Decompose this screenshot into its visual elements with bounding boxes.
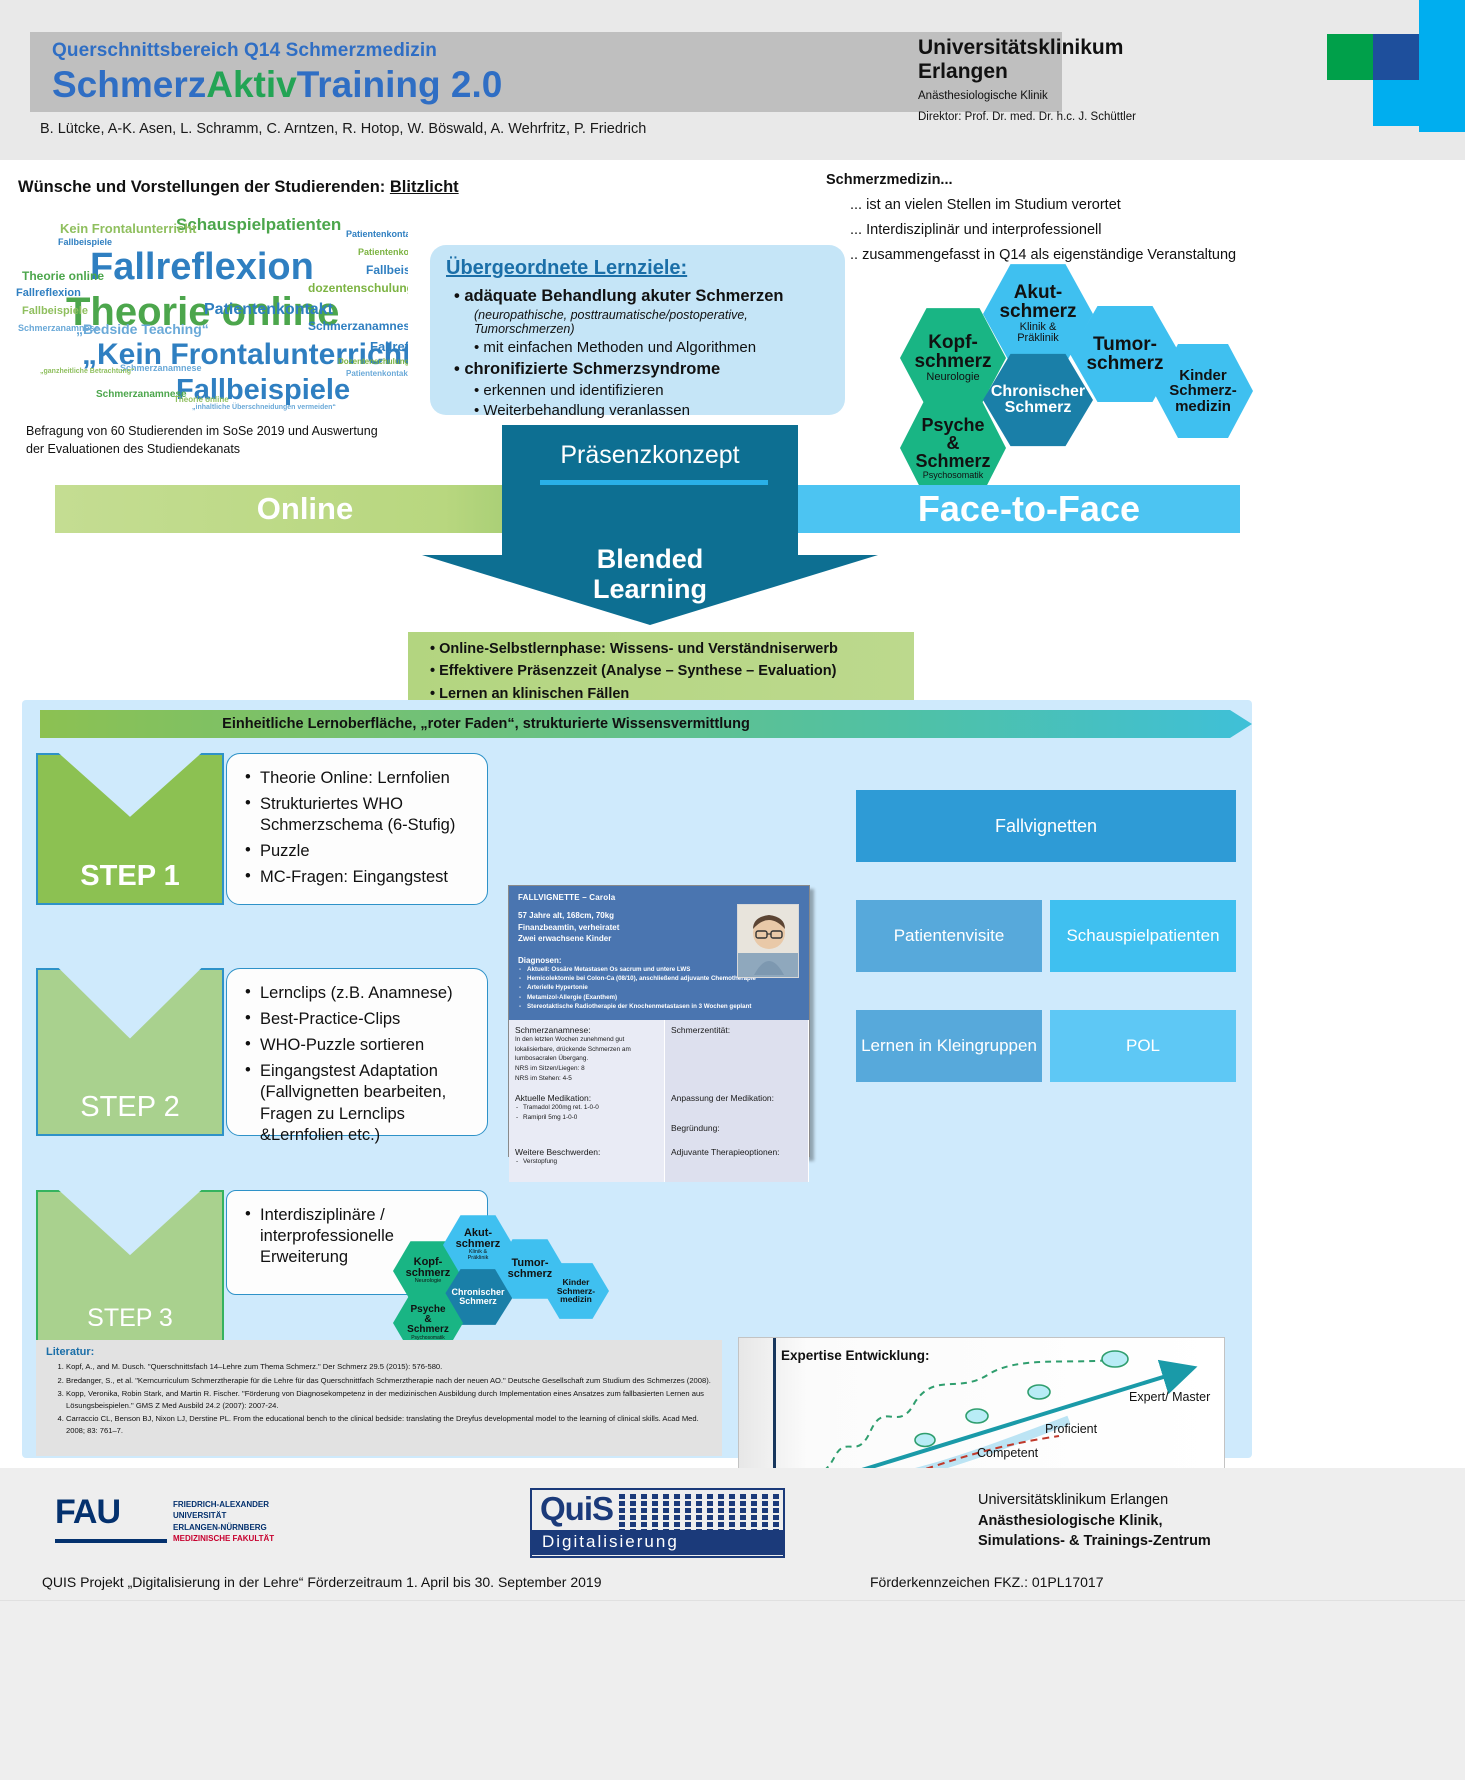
wordcloud-word: Schmerzanamnese: [18, 324, 100, 333]
hexagon-title: Akut-schmerz: [456, 1228, 501, 1250]
hexagon-title: Kopf-schmerz: [914, 333, 991, 372]
step-2-item-3: WHO-Puzzle sortieren: [245, 1035, 477, 1056]
step-1-item-1: Theorie Online: Lernfolien: [245, 768, 477, 789]
schmerzmedizin-block: Schmerzmedizin... ... ist an vielen Stel…: [826, 172, 1286, 263]
flag-green-square: [1327, 34, 1373, 80]
anpassung-cell: Anpassung der Medikation: Begründung:: [665, 1088, 809, 1142]
hexagon-subtitle: Psychosomatik: [923, 471, 984, 480]
schmerzmedizin-line-2: ... Interdisziplinär und interprofession…: [850, 222, 1286, 238]
wordcloud-word: Fallreflexion: [370, 340, 408, 353]
table-row: Aktuelle Medikation: Tramadol 200mg ret.…: [509, 1088, 809, 1142]
online-label: Online: [55, 491, 555, 527]
wordcloud-word: Fallreflexion: [16, 288, 81, 299]
tile-fallvignetten[interactable]: Fallvignetten: [856, 790, 1236, 862]
tile-pol-label: POL: [1126, 1036, 1160, 1056]
fau-wordmark: FAU: [55, 1493, 120, 1532]
footer-address-line3: Simulations- & Trainings-Zentrum: [978, 1531, 1211, 1552]
footer-address-line1: Universitätsklinikum Erlangen: [978, 1490, 1211, 1511]
step-2-label: STEP 2: [80, 1091, 179, 1134]
fallvignette-header: FALLVIGNETTE – Carola 57 Jahre alt, 168c…: [509, 886, 809, 1020]
chart-label-proficient: Proficient: [1045, 1422, 1097, 1436]
tile-kleingruppen-label: Lernen in Kleingruppen: [861, 1035, 1037, 1056]
learning-goals-box: Übergeordnete Lernziele: • adäquate Beha…: [430, 245, 845, 415]
flag-cyan-square: [1373, 80, 1419, 126]
hexagon-title: Tumor-schmerz: [508, 1258, 553, 1280]
footer-address-line2: Anästhesiologische Klinik,: [978, 1511, 1211, 1532]
step-1-item-4: MC-Fragen: Eingangstest: [245, 867, 477, 888]
goal-item-2-sub-2: • Weiterbehandlung veranlassen: [474, 402, 829, 419]
weitere-cell: Weitere Beschwerden: Verstopfung: [509, 1142, 665, 1182]
flag-navy-square: [1373, 34, 1419, 80]
title-part-3: Training 2.0: [297, 64, 503, 105]
wordcloud-image: FallreflexionTheorie online„Kein Frontal…: [8, 200, 408, 412]
wordcloud-word: Fallbeispiele: [58, 238, 112, 247]
step-1-item-3: Puzzle: [245, 841, 477, 862]
fau-logo: FAU FRIEDRICH-ALEXANDER UNIVERSITÄT ERLA…: [55, 1493, 315, 1549]
blended-learning-label: Blended Learning: [502, 545, 798, 604]
online-bar: Online: [55, 485, 555, 533]
goal-item-1-note: (neuropathische, posttraumatische/postop…: [474, 308, 829, 336]
wordcloud-word: Patientenkontakt: [346, 370, 408, 378]
hexagon-title: KinderSchmerz-medizin: [557, 1278, 595, 1304]
title-part-1: Schmerz: [52, 64, 206, 105]
pain-domains-hexagon-cluster: Kopf-schmerzNeurologieAkut-schmerzKlinik…: [890, 270, 1280, 470]
wordcloud-word: Theorie online: [22, 270, 104, 282]
hexagon-subtitle: Neurologie: [926, 372, 979, 384]
goal-item-1-sub: • mit einfachen Methoden und Algorithmen: [474, 339, 829, 356]
step-1-item-2: Strukturiertes WHO Schmerzschema (6-Stuf…: [245, 794, 477, 836]
hexagon-title: KinderSchmerz-medizin: [1169, 368, 1237, 414]
schmerzmedizin-line-1: ... ist an vielen Stellen im Studium ver…: [850, 197, 1286, 213]
concept-bullet: • Effektivere Präsenzzeit (Analyse – Syn…: [430, 660, 914, 682]
survey-note: Befragung von 60 Studierenden im SoSe 20…: [26, 422, 396, 458]
poster-kicker: Querschnittsbereich Q14 Schmerzmedizin: [52, 40, 1062, 62]
page-title: SchmerzAktivTraining 2.0: [52, 66, 1062, 105]
step-2-item-1: Lernclips (z.B. Anamnese): [245, 983, 477, 1004]
hexagon-title: Psyche&Schmerz: [407, 1305, 449, 1336]
quis-dot-pattern: [619, 1494, 779, 1530]
footer-grant-number: Förderkennzeichen FKZ.: 01PL17017: [870, 1574, 1103, 1590]
wordcloud-word: dozentenschulung: [308, 282, 408, 294]
blended-line-1: Blended: [502, 545, 798, 575]
step-3-label: STEP 3: [87, 1304, 173, 1343]
literature-item: Kopf, A., and M. Dusch. "Querschnittsfac…: [66, 1361, 714, 1372]
wordcloud-word: Patientenkontakt: [358, 248, 408, 257]
fallvignette-card: FALLVIGNETTE – Carola 57 Jahre alt, 168c…: [508, 885, 810, 1157]
quis-logo-top: QuiS: [532, 1490, 783, 1530]
literature-heading: Literatur:: [46, 1346, 714, 1358]
footer-project-text: QUIS Projekt „Digitalisierung in der Leh…: [42, 1574, 601, 1590]
fau-fulltext: FRIEDRICH-ALEXANDER UNIVERSITÄT ERLANGEN…: [173, 1499, 274, 1544]
lernoberflaeche-ribbon: Einheitliche Lernoberfläche, „roter Fade…: [40, 710, 1252, 738]
step-1-label: STEP 1: [80, 860, 179, 903]
step-2-item-4: Eingangstest Adaptation (Fallvignetten b…: [245, 1061, 477, 1145]
diagnosis-item: Arterielle Hypertonie: [527, 983, 800, 992]
wordcloud-word: Schmerzanamnese: [308, 320, 408, 332]
fallvignette-title: FALLVIGNETTE – Carola: [518, 893, 800, 902]
praesenzkonzept-label: Präsenzkonzept: [502, 425, 798, 485]
goal-item-1: • adäquate Behandlung akuter Schmerzen: [454, 287, 829, 306]
face-to-face-label: Face-to-Face: [918, 488, 1140, 530]
university-name-line2: Erlangen: [918, 60, 1136, 84]
title-box: Querschnittsbereich Q14 Schmerzmedizin S…: [30, 32, 1062, 112]
wordcloud-word: Fallbeispiele: [22, 306, 88, 317]
tile-fallvignetten-label: Fallvignetten: [995, 816, 1097, 837]
literature-item: Bredanger, S., et al. "Kerncurriculum Sc…: [66, 1375, 714, 1386]
chart-label-expert: Expert/ Master: [1129, 1390, 1210, 1404]
literature-item: Carraccio CL, Benson BJ, Nixon LJ, Derst…: [66, 1413, 714, 1435]
wordcloud-word: Dozentenschulung: [338, 358, 408, 366]
hexagon-title: ChronischerSchmerz: [991, 384, 1085, 417]
anamnese-cell: Schmerzanamnese: In den letzten Wochen z…: [509, 1020, 665, 1088]
patient-photo: [737, 904, 799, 978]
hexagon-title: Psyche&Schmerz: [915, 416, 990, 471]
hexagon-title: Tumor-schmerz: [1086, 335, 1163, 374]
blended-learning-bullets: • Online-Selbstlernphase: Wissens- und V…: [408, 632, 914, 700]
learning-goals-heading: Übergeordnete Lernziele:: [446, 257, 829, 280]
intensitaet-cell: Schmerzentität:: [665, 1020, 809, 1088]
tile-pol[interactable]: POL: [1050, 1010, 1236, 1082]
wordcloud-word: Kein Frontalunterricht: [60, 222, 197, 235]
quis-logo: QuiS Digitalisierung: [530, 1488, 785, 1558]
step-1-box: Theorie Online: Lernfolien Strukturierte…: [226, 753, 488, 905]
wordcloud-word: Schauspielpatienten: [176, 216, 341, 233]
footer-divider: [0, 1600, 1465, 1601]
schmerzmedizin-line-3: .. zusammengefasst in Q14 als eigenständ…: [850, 247, 1286, 263]
schmerzmedizin-heading: Schmerzmedizin...: [826, 172, 1286, 188]
footer-address: Universitätsklinikum Erlangen Anästhesio…: [978, 1490, 1211, 1552]
diagnosis-item: Metamizol-Allergie (Exanthem): [527, 993, 800, 1002]
pain-domains-hexagon-cluster-small: Kopf-schmerzNeurologieAkut-schmerzKlinik…: [385, 1218, 610, 1338]
lernoberflaeche-ribbon-label: Einheitliche Lernoberfläche, „roter Fade…: [222, 716, 750, 732]
university-name-line1: Universitätsklinikum: [918, 36, 1136, 60]
table-row: Weitere Beschwerden: Verstopfung Adjuvan…: [509, 1142, 809, 1182]
wordcloud-word: „inhaltliche Überschneidungen vermeiden“: [192, 404, 336, 411]
tile-schauspielpatienten-label: Schauspielpatienten: [1066, 926, 1219, 946]
goal-item-2-sub-1: • erkennen und identifizieren: [474, 382, 829, 399]
adjuvante-cell: Adjuvante Therapieoptionen:: [665, 1142, 809, 1182]
wordcloud-word: Theorie online: [174, 396, 229, 404]
hexagon-subtitle: Klinik &Präklinik: [468, 1250, 489, 1262]
university-block: Universitätsklinikum Erlangen Anästhesio…: [918, 36, 1136, 125]
quis-wordmark: QuiS: [532, 1490, 613, 1530]
literature-box: Literatur: Kopf, A., and M. Dusch. "Quer…: [36, 1340, 722, 1456]
hexagon-title: Akut-schmerz: [999, 283, 1076, 322]
survey-heading-underlined: Blitzlicht: [390, 178, 459, 196]
survey-heading: Wünsche und Vorstellungen der Studierend…: [18, 178, 459, 197]
title-part-2: Aktiv: [206, 64, 296, 105]
concept-bullet: • Online-Selbstlernphase: Wissens- und V…: [430, 638, 914, 660]
medikation-cell: Aktuelle Medikation: Tramadol 200mg ret.…: [509, 1088, 665, 1142]
literature-item: Kopp, Veronika, Robin Stark, and Martin …: [66, 1388, 714, 1410]
flag-cyan-tall: [1419, 0, 1465, 132]
tile-patientenvisite-label: Patientenvisite: [894, 926, 1005, 946]
clinic-director: Direktor: Prof. Dr. med. Dr. h.c. J. Sch…: [918, 110, 1136, 126]
tile-patientenvisite[interactable]: Patientenvisite: [856, 900, 1042, 972]
table-row: Schmerzanamnese: In den letzten Wochen z…: [509, 1020, 809, 1088]
diagnosis-item: Stereotaktische Radiotherapie der Knoche…: [527, 1002, 800, 1011]
tile-kleingruppen[interactable]: Lernen in Kleingruppen: [856, 1010, 1042, 1082]
wordcloud-word: Patientenkontakt: [346, 230, 408, 239]
hexagon-title: ChronischerSchmerz: [451, 1288, 504, 1306]
blended-line-2: Learning: [502, 575, 798, 605]
author-list: B. Lütcke, A-K. Asen, L. Schramm, C. Arn…: [40, 121, 646, 137]
survey-heading-prefix: Wünsche und Vorstellungen der Studierend…: [18, 178, 390, 196]
hexagon-title: Kopf-schmerz: [406, 1257, 451, 1279]
wordcloud-word: „ganzheitliche Betrachtung“: [40, 368, 135, 375]
goal-item-2: • chronifizierte Schmerzsyndrome: [454, 360, 829, 379]
wordcloud-word: Fallbeispiele: [366, 264, 408, 276]
hexagon-subtitle: Neurologie: [415, 1279, 442, 1285]
wordcloud-word: Patientenkontakt: [204, 302, 333, 318]
fau-underline: [55, 1539, 167, 1543]
tile-schauspielpatienten[interactable]: Schauspielpatienten: [1050, 900, 1236, 972]
hexagon-subtitle: Klinik &Präklinik: [1017, 322, 1059, 345]
clinic-name: Anästhesiologische Klinik: [918, 89, 1136, 105]
step-2-box: Lernclips (z.B. Anamnese) Best-Practice-…: [226, 968, 488, 1136]
wordcloud-word: Fallreflexion: [90, 248, 314, 286]
step-2-item-2: Best-Practice-Clips: [245, 1009, 477, 1030]
chart-label-competent: Competent: [977, 1446, 1038, 1460]
